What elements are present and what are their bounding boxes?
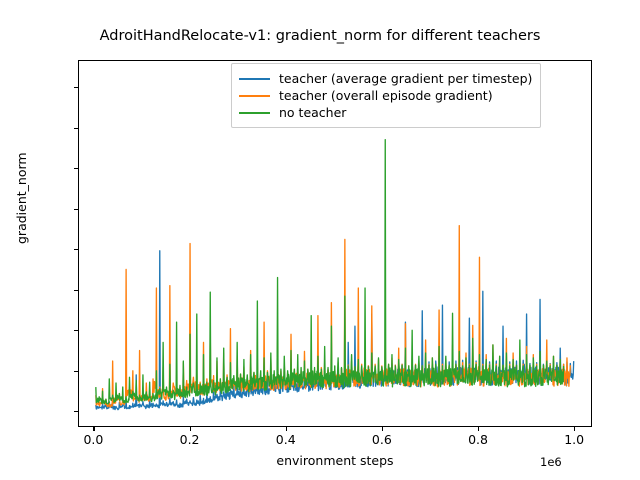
x-tick-mark [382, 427, 383, 431]
legend-item: teacher (average gradient per timestep) [239, 70, 532, 87]
matplotlib-figure: AdroitHandRelocate-v1: gradient_norm for… [0, 0, 640, 480]
x-tick-label: 0.2 [180, 432, 200, 447]
legend-color-swatch [239, 112, 270, 114]
legend-label: no teacher [279, 104, 346, 121]
legend: teacher (average gradient per timestep)t… [231, 63, 541, 128]
x-tick-label: 1.0 [564, 432, 584, 447]
y-axis-label: gradient_norm [14, 152, 29, 244]
x-axis-offset-text: 1e6 [540, 455, 600, 469]
x-tick-label: 0.8 [468, 432, 488, 447]
x-tick-mark [574, 427, 575, 431]
x-tick-label: 0.0 [83, 432, 103, 447]
legend-label: teacher (overall episode gradient) [279, 87, 493, 104]
legend-item: no teacher [239, 104, 532, 121]
legend-item: teacher (overall episode gradient) [239, 87, 532, 104]
legend-color-swatch [239, 95, 270, 97]
x-tick-mark [93, 427, 94, 431]
x-tick-mark [190, 427, 191, 431]
x-tick-label: 0.4 [276, 432, 296, 447]
legend-color-swatch [239, 78, 270, 80]
x-tick-mark [478, 427, 479, 431]
x-tick-mark [286, 427, 287, 431]
x-tick-label: 0.6 [372, 432, 392, 447]
legend-label: teacher (average gradient per timestep) [279, 70, 532, 87]
x-axis-label: environment steps [78, 453, 592, 468]
series-line [96, 140, 564, 404]
page-title: AdroitHandRelocate-v1: gradient_norm for… [0, 28, 640, 44]
